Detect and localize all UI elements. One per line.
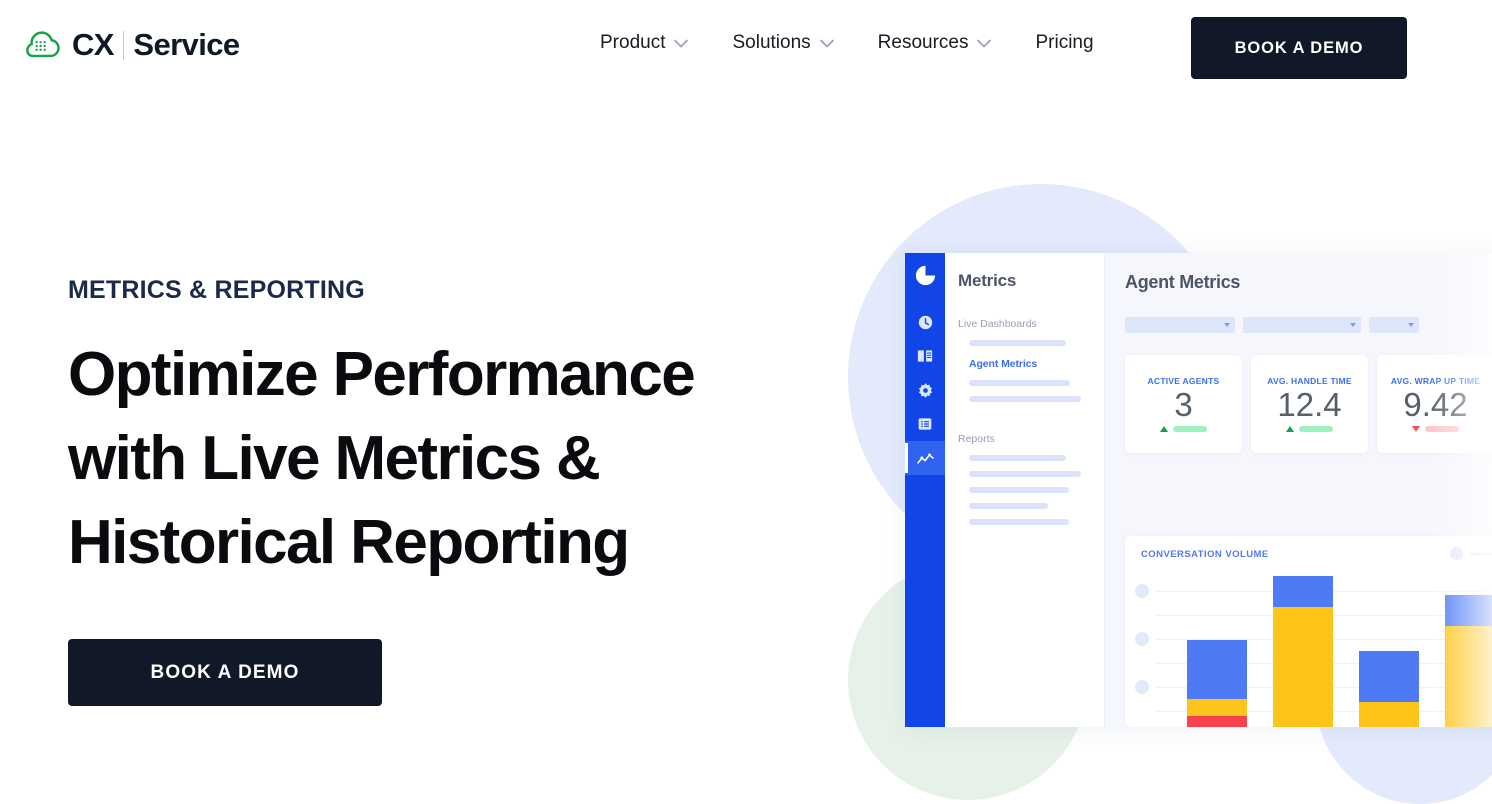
filter-dropdown-2[interactable] [1243,317,1361,333]
rail-item-list[interactable] [905,407,945,441]
chevron-down-icon [1350,323,1356,327]
hero-eyebrow: METRICS & REPORTING [68,276,828,305]
sidebar-placeholder-item[interactable] [969,471,1081,477]
chevron-down-icon [1408,323,1414,327]
circle-pac-logo-icon [914,264,937,287]
trend-up-icon [1286,426,1294,432]
chart-bar-segment [1359,702,1419,727]
nav-label-pricing: Pricing [1035,32,1093,54]
chevron-down-icon [674,39,688,48]
hero-headline-line-3: Historical Reporting [68,501,828,585]
dashboard-main-title: Agent Metrics [1125,272,1492,293]
rail-item-clock[interactable] [905,305,945,339]
brand-logo[interactable]: CX Service [24,26,240,64]
hero-headline-line-1: Optimize Performance [68,333,828,417]
filter-dropdown-1[interactable] [1125,317,1235,333]
y-axis-label-placeholder [1135,584,1149,598]
sidebar-group-reports: Reports [958,433,1104,445]
nav-item-pricing[interactable]: Pricing [1035,32,1093,54]
chart-legend-line [1470,553,1492,555]
dashboard-icon-rail [905,253,945,727]
chevron-down-icon [977,39,991,48]
y-axis-label-placeholder [1135,680,1149,694]
main-navigation: Product Solutions Resources Pricing [600,32,1094,54]
chart-bar [1187,640,1247,727]
hero-headline-line-2: with Live Metrics & [68,417,828,501]
header-book-a-demo-button[interactable]: BOOK A DEMO [1191,17,1407,79]
sidebar-placeholder-item[interactable] [969,503,1048,509]
chart-bar [1359,651,1419,727]
nav-item-resources[interactable]: Resources [878,32,992,54]
y-axis-label-placeholder [1135,632,1149,646]
hero-headline: Optimize Performance with Live Metrics &… [68,333,828,585]
analytics-chart-icon [916,449,935,468]
trend-placeholder-bar [1299,426,1333,432]
trend-placeholder-bar [1173,426,1207,432]
dashboard-main-panel: Agent Metrics ACTIVE AGENTS 3 AVG. HANDL… [1105,253,1492,727]
dashboard-mockup: Metrics Live Dashboards Agent Metrics Re… [905,253,1492,727]
nav-label-resources: Resources [878,32,969,54]
nav-label-product: Product [600,32,665,54]
sidebar-placeholder-item[interactable] [969,396,1081,402]
dashboard-sidebar-title: Metrics [958,271,1104,291]
brand-divider [123,31,125,60]
trend-down-icon [1412,426,1420,432]
sidebar-placeholder-item[interactable] [969,519,1069,525]
rail-item-settings[interactable] [905,373,945,407]
kpi-card-active-agents[interactable]: ACTIVE AGENTS 3 [1125,355,1242,453]
rail-item-book[interactable] [905,339,945,373]
list-icon [917,416,933,432]
brand-name-cx: CX [72,27,114,63]
kpi-card-avg-wrap-up-time[interactable]: AVG. WRAP UP TIME 9.42 [1377,355,1492,453]
hero-book-a-demo-button[interactable]: BOOK A DEMO [68,639,382,706]
book-icon [916,347,934,365]
sidebar-placeholder-item[interactable] [969,455,1066,461]
trend-up-icon [1160,426,1168,432]
nav-item-product[interactable]: Product [600,32,688,54]
kpi-value: 9.42 [1403,387,1467,423]
kpi-value: 12.4 [1277,387,1341,423]
sidebar-item-agent-metrics[interactable]: Agent Metrics [969,358,1104,370]
nav-item-solutions[interactable]: Solutions [732,32,833,54]
trend-placeholder-bar [1425,426,1459,432]
chart-title: CONVERSATION VOLUME [1141,549,1269,560]
chart-bar-segment [1187,699,1247,716]
kpi-value: 3 [1174,387,1192,423]
chart-bar [1273,576,1333,727]
clock-icon [917,314,934,331]
chart-bar-segment [1187,640,1247,699]
gear-icon [917,382,934,399]
kpi-card-avg-handle-time[interactable]: AVG. HANDLE TIME 12.4 [1251,355,1368,453]
landing-page: CX Service Product Solutions Resources P… [0,0,1492,804]
kpi-card-row: ACTIVE AGENTS 3 AVG. HANDLE TIME 12.4 [1125,355,1492,453]
sidebar-placeholder-item[interactable] [969,487,1069,493]
chart-bar [1445,595,1492,727]
chart-legend-dot [1450,547,1463,560]
chart-bar-segment [1273,607,1333,727]
chart-bar-segment [1273,576,1333,607]
kpi-label: ACTIVE AGENTS [1148,376,1220,386]
chart-bar-segment [1445,595,1492,626]
dashboard-sidebar: Metrics Live Dashboards Agent Metrics Re… [945,253,1105,727]
kpi-label: AVG. WRAP UP TIME [1391,376,1480,386]
hero-section: METRICS & REPORTING Optimize Performance… [68,276,828,706]
sidebar-placeholder-item[interactable] [969,340,1066,346]
kpi-trend [1412,426,1459,432]
nav-label-solutions: Solutions [732,32,810,54]
chart-bar-segment [1445,626,1492,727]
brand-name-service: Service [133,27,239,63]
kpi-trend [1160,426,1207,432]
site-header: CX Service Product Solutions Resources P… [0,0,1492,96]
conversation-volume-chart-card: CONVERSATION VOLUME [1125,536,1492,727]
chart-bar-segment [1359,651,1419,701]
chart-bar-segment [1187,716,1247,727]
chevron-down-icon [1224,323,1230,327]
rail-item-analytics[interactable] [905,441,945,475]
chevron-down-icon [820,39,834,48]
filter-dropdown-3[interactable] [1369,317,1419,333]
dashboard-filter-row [1125,317,1492,333]
kpi-trend [1286,426,1333,432]
sidebar-placeholder-item[interactable] [969,380,1070,386]
cloud-grid-icon [24,26,62,64]
kpi-label: AVG. HANDLE TIME [1267,376,1352,386]
sidebar-group-live-dashboards: Live Dashboards [958,318,1104,330]
